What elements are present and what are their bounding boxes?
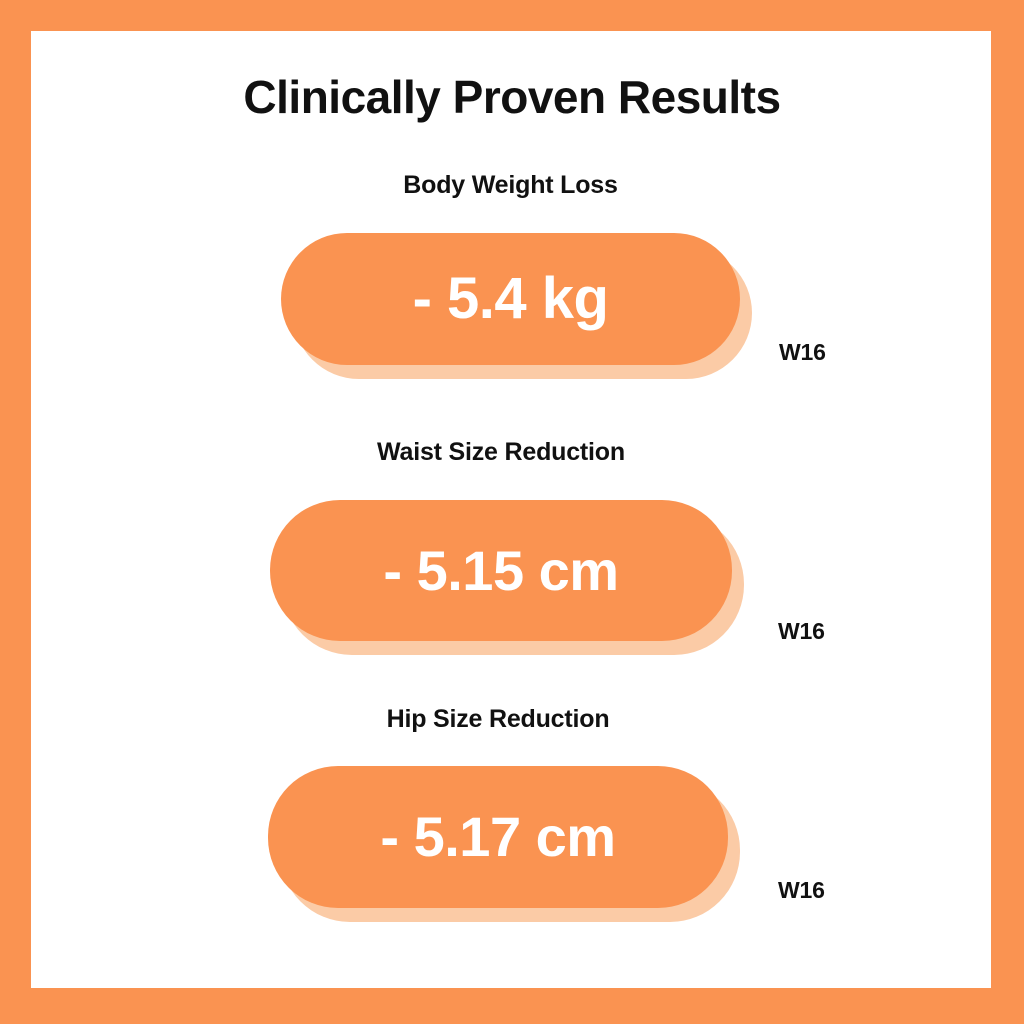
week-tag: W16 bbox=[778, 877, 825, 904]
metric-bar-hip-size-reduction: - 5.17 cm bbox=[268, 766, 728, 908]
metric-bar-body-weight-loss: - 5.4 kg bbox=[281, 233, 740, 365]
bar-fill: - 5.4 kg bbox=[281, 233, 740, 365]
bar-value-label: - 5.17 cm bbox=[380, 809, 615, 865]
bar-fill: - 5.17 cm bbox=[268, 766, 728, 908]
week-tag: W16 bbox=[779, 339, 826, 366]
week-tag: W16 bbox=[778, 618, 825, 645]
bar-value-label: - 5.15 cm bbox=[383, 543, 618, 599]
bar-value-label: - 5.4 kg bbox=[413, 270, 609, 328]
page-title: Clinically Proven Results bbox=[0, 74, 1024, 120]
metric-bar-waist-size-reduction: - 5.15 cm bbox=[270, 500, 732, 641]
metric-label: Hip Size Reduction bbox=[268, 705, 728, 734]
metric-label: Body Weight Loss bbox=[281, 171, 740, 200]
bar-fill: - 5.15 cm bbox=[270, 500, 732, 641]
metric-label: Waist Size Reduction bbox=[270, 438, 732, 467]
results-poster: Clinically Proven Results Body Weight Lo… bbox=[0, 0, 1024, 1024]
